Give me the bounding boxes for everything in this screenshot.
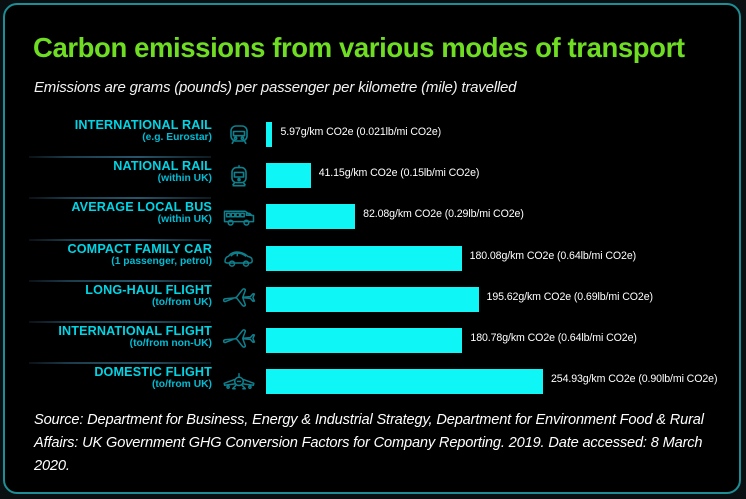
row-label-group: LONG-HAUL FLIGHT(to/from UK) <box>5 284 212 309</box>
row-label: AVERAGE LOCAL BUS <box>5 201 212 214</box>
airplane-side-icon <box>219 326 259 356</box>
bar-zone: 254.93g/km CO2e (0.90lb/mi CO2e) <box>266 368 741 397</box>
airplane-side-icon <box>219 285 259 315</box>
row-sublabel: (to/from UK) <box>5 380 212 391</box>
page-title: Carbon emissions from various modes of t… <box>33 32 685 64</box>
row-divider <box>29 156 211 158</box>
page-subtitle: Emissions are grams (pounds) per passeng… <box>34 79 516 96</box>
row-label: INTERNATIONAL RAIL <box>5 119 212 132</box>
bar <box>266 163 311 188</box>
row-label-group: AVERAGE LOCAL BUS(within UK) <box>5 201 212 226</box>
bar-value-label: 41.15g/km CO2e (0.15lb/mi CO2e) <box>319 167 480 179</box>
bar <box>266 246 462 271</box>
row-sublabel: (to/from UK) <box>5 298 212 309</box>
bar-value-label: 254.93g/km CO2e (0.90lb/mi CO2e) <box>551 373 717 385</box>
bar <box>266 369 543 394</box>
row-divider <box>29 362 211 364</box>
bar-value-label: 195.62g/km CO2e (0.69lb/mi CO2e) <box>487 291 653 303</box>
row-divider <box>29 239 211 241</box>
chart-row: DOMESTIC FLIGHT(to/from UK)254.93g/km CO… <box>5 362 741 403</box>
bar-chart: INTERNATIONAL RAIL(e.g. Eurostar)5.97g/k… <box>5 115 741 403</box>
bar <box>266 328 462 353</box>
chart-row: INTERNATIONAL RAIL(e.g. Eurostar)5.97g/k… <box>5 115 741 156</box>
chart-row: AVERAGE LOCAL BUS(within UK)82.08g/km CO… <box>5 197 741 238</box>
row-label: LONG-HAUL FLIGHT <box>5 284 212 297</box>
row-sublabel: (within UK) <box>5 215 212 226</box>
train-front-icon <box>219 120 259 150</box>
chart-row: COMPACT FAMILY CAR(1 passenger, petrol)1… <box>5 239 741 280</box>
bar-value-label: 180.78g/km CO2e (0.64lb/mi CO2e) <box>470 332 636 344</box>
chart-row: NATIONAL RAIL(within UK)41.15g/km CO2e (… <box>5 156 741 197</box>
row-sublabel: (1 passenger, petrol) <box>5 257 212 268</box>
bar-zone: 5.97g/km CO2e (0.021lb/mi CO2e) <box>266 121 741 150</box>
bar-value-label: 82.08g/km CO2e (0.29lb/mi CO2e) <box>363 208 524 220</box>
bar-value-label: 180.08g/km CO2e (0.64lb/mi CO2e) <box>470 250 636 262</box>
airplane-front-icon <box>219 367 259 397</box>
row-sublabel: (to/from non-UK) <box>5 339 212 350</box>
row-sublabel: (e.g. Eurostar) <box>5 133 212 144</box>
bar-value-label: 5.97g/km CO2e (0.021lb/mi CO2e) <box>280 126 441 138</box>
bar-zone: 41.15g/km CO2e (0.15lb/mi CO2e) <box>266 162 741 191</box>
row-divider <box>29 280 211 282</box>
infographic-card: Carbon emissions from various modes of t… <box>3 3 741 494</box>
row-label: INTERNATIONAL FLIGHT <box>5 325 212 338</box>
bar-zone: 82.08g/km CO2e (0.29lb/mi CO2e) <box>266 203 741 232</box>
source-note: Source: Department for Business, Energy … <box>34 409 724 477</box>
row-label-group: COMPACT FAMILY CAR(1 passenger, petrol) <box>5 243 212 268</box>
row-label: NATIONAL RAIL <box>5 160 212 173</box>
row-label-group: DOMESTIC FLIGHT(to/from UK) <box>5 366 212 391</box>
bar <box>266 122 272 147</box>
bar-zone: 180.78g/km CO2e (0.64lb/mi CO2e) <box>266 327 741 356</box>
row-label-group: INTERNATIONAL FLIGHT(to/from non-UK) <box>5 325 212 350</box>
row-divider <box>29 197 211 199</box>
chart-row: INTERNATIONAL FLIGHT(to/from non-UK)180.… <box>5 321 741 362</box>
row-sublabel: (within UK) <box>5 174 212 185</box>
row-label: COMPACT FAMILY CAR <box>5 243 212 256</box>
bus-icon <box>219 202 259 232</box>
car-icon <box>219 244 259 274</box>
bar <box>266 204 355 229</box>
row-divider <box>29 321 211 323</box>
row-label: DOMESTIC FLIGHT <box>5 366 212 379</box>
tram-icon <box>219 161 259 191</box>
bar <box>266 287 479 312</box>
chart-row: LONG-HAUL FLIGHT(to/from UK)195.62g/km C… <box>5 280 741 321</box>
bar-zone: 180.08g/km CO2e (0.64lb/mi CO2e) <box>266 245 741 274</box>
row-label-group: INTERNATIONAL RAIL(e.g. Eurostar) <box>5 119 212 144</box>
row-label-group: NATIONAL RAIL(within UK) <box>5 160 212 185</box>
bar-zone: 195.62g/km CO2e (0.69lb/mi CO2e) <box>266 286 741 315</box>
